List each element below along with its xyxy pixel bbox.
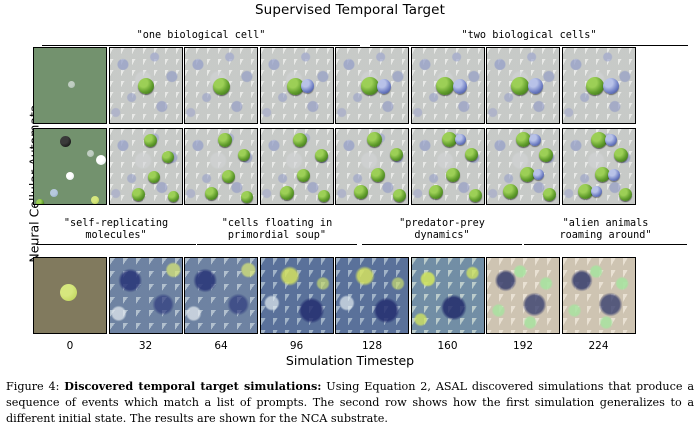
panel-r3-t96[interactable] bbox=[260, 257, 334, 334]
seed-blob-green bbox=[36, 199, 44, 205]
organism-green bbox=[354, 185, 368, 199]
organism-blue bbox=[529, 134, 541, 146]
organism-green bbox=[539, 148, 553, 162]
organism-green bbox=[148, 171, 160, 183]
panel-r2-t160[interactable] bbox=[411, 128, 485, 205]
prompt-group-bottom-1-rule bbox=[197, 242, 357, 245]
prompt-group-bottom-0-rule bbox=[36, 242, 196, 245]
organism-green bbox=[619, 188, 632, 201]
prompt-group-bottom-2: "predator-prey dynamics" bbox=[362, 218, 522, 245]
panel-r2-t0[interactable] bbox=[33, 128, 107, 205]
panel-r3-t64[interactable] bbox=[184, 257, 258, 334]
prompt-group-top-1-rule bbox=[370, 43, 688, 46]
seed-blob bbox=[68, 81, 75, 88]
organism-blue bbox=[377, 79, 391, 94]
seed-blob-sky bbox=[50, 189, 58, 197]
organism-green bbox=[162, 151, 174, 163]
panel-r2-t96[interactable] bbox=[260, 128, 334, 205]
prompt-group-bottom-3-line1: "alien animals bbox=[524, 218, 687, 230]
organism-blue bbox=[608, 169, 620, 181]
organism-blue bbox=[533, 169, 544, 180]
prompt-group-top-1: "two biological cells" bbox=[370, 30, 688, 46]
panel-r2-t64[interactable] bbox=[184, 128, 258, 205]
organism-green bbox=[138, 78, 154, 94]
panel-r2-t128[interactable] bbox=[335, 128, 409, 205]
x-tick-160: 160 bbox=[411, 340, 485, 352]
prompt-group-bottom-0-line1: "self-replicating bbox=[36, 218, 196, 230]
organism-green bbox=[446, 168, 460, 182]
prompt-group-bottom-2-line1: "predator-prey bbox=[362, 218, 522, 230]
organism-green bbox=[586, 77, 604, 95]
figure-caption: Figure 4: Discovered temporal target sim… bbox=[6, 378, 694, 428]
panel-r3-t224[interactable] bbox=[562, 257, 636, 334]
organism-green bbox=[168, 191, 179, 202]
x-tick-96: 96 bbox=[260, 340, 334, 352]
seed-blob-lime bbox=[91, 196, 99, 204]
prompt-group-bottom-3-line2: roaming around" bbox=[524, 230, 687, 242]
organism-green bbox=[371, 168, 385, 182]
seed-blob-pale bbox=[87, 150, 94, 157]
seed-blob-lime bbox=[60, 284, 77, 301]
seed-blob-white bbox=[66, 172, 74, 180]
seed-blob-black bbox=[60, 136, 71, 147]
organism-green bbox=[222, 170, 235, 183]
prompt-group-bottom-1-line1: "cells floating in bbox=[197, 218, 357, 230]
organism-green bbox=[614, 148, 628, 162]
figure-container: Supervised Temporal Target Neural Cellul… bbox=[0, 0, 700, 439]
organism-blue bbox=[603, 78, 619, 94]
prompt-group-bottom-0: "self-replicating molecules" bbox=[36, 218, 196, 245]
seed-blob-white bbox=[96, 155, 106, 165]
organism-green bbox=[393, 189, 406, 202]
panel-r3-t32[interactable] bbox=[109, 257, 183, 334]
organism-green bbox=[144, 134, 157, 147]
panel-r3-t160[interactable] bbox=[411, 257, 485, 334]
organism-green bbox=[318, 190, 330, 202]
prompt-group-bottom-2-rule bbox=[362, 242, 522, 245]
organism-green bbox=[503, 184, 518, 199]
x-tick-128: 128 bbox=[335, 340, 409, 352]
panel-r1-t0[interactable] bbox=[33, 47, 107, 124]
organism-green bbox=[297, 169, 310, 182]
organism-green bbox=[218, 133, 232, 147]
organism-green bbox=[315, 149, 328, 162]
figure-title: Supervised Temporal Target bbox=[0, 2, 700, 18]
organism-blue bbox=[528, 78, 543, 94]
panel-r1-t32[interactable] bbox=[109, 47, 183, 124]
x-axis-label: Simulation Timestep bbox=[0, 353, 700, 368]
panel-row-1 bbox=[33, 47, 636, 124]
organism-green bbox=[367, 132, 382, 147]
organism-green bbox=[205, 187, 218, 200]
organism-green bbox=[390, 148, 403, 161]
panel-r3-t128[interactable] bbox=[335, 257, 409, 334]
panel-r1-t192[interactable] bbox=[486, 47, 560, 124]
organism-blue bbox=[301, 79, 314, 93]
panel-r1-t128[interactable] bbox=[335, 47, 409, 124]
prompt-group-bottom-3: "alien animals roaming around" bbox=[524, 218, 687, 245]
panel-r1-t96[interactable] bbox=[260, 47, 334, 124]
panel-r3-t192[interactable] bbox=[486, 257, 560, 334]
organism-green bbox=[469, 189, 482, 202]
prompt-group-bottom-1: "cells floating in primordial soup" bbox=[197, 218, 357, 245]
panel-r1-t224[interactable] bbox=[562, 47, 636, 124]
caption-prefix: Figure 4: bbox=[6, 380, 64, 393]
prompt-group-top-0-label: "one biological cell" bbox=[42, 30, 360, 42]
organism-green bbox=[132, 188, 145, 201]
panel-r1-t160[interactable] bbox=[411, 47, 485, 124]
panel-r2-t192[interactable] bbox=[486, 128, 560, 205]
prompt-group-top-0: "one biological cell" bbox=[42, 30, 360, 46]
panel-r1-t64[interactable] bbox=[184, 47, 258, 124]
x-tick-32: 32 bbox=[109, 340, 183, 352]
panel-r3-t0[interactable] bbox=[33, 257, 107, 334]
panel-row-3 bbox=[33, 257, 636, 334]
organism-green bbox=[293, 133, 307, 147]
organism-green bbox=[280, 186, 294, 200]
panel-r2-t224[interactable] bbox=[562, 128, 636, 205]
panel-row-2 bbox=[33, 128, 636, 205]
organism-blue bbox=[605, 134, 617, 146]
x-tick-64: 64 bbox=[184, 340, 258, 352]
organism-green bbox=[436, 77, 454, 95]
organism-green bbox=[543, 188, 556, 201]
organism-blue bbox=[453, 79, 467, 94]
prompt-group-bottom-2-line2: dynamics" bbox=[362, 230, 522, 242]
prompt-group-bottom-0-line2: molecules" bbox=[36, 230, 196, 242]
x-tick-0: 0 bbox=[33, 340, 107, 352]
prompt-group-bottom-1-line2: primordial soup" bbox=[197, 230, 357, 242]
organism-blue bbox=[455, 134, 466, 145]
x-tick-192: 192 bbox=[486, 340, 560, 352]
prompt-group-top-1-label: "two biological cells" bbox=[370, 30, 688, 42]
panel-r2-t32[interactable] bbox=[109, 128, 183, 205]
prompt-group-top-0-rule bbox=[42, 43, 360, 46]
organism-green bbox=[238, 149, 250, 161]
organism-green bbox=[511, 77, 529, 95]
x-tick-224: 224 bbox=[562, 340, 636, 352]
organism-green bbox=[429, 185, 443, 199]
prompt-group-bottom-3-rule bbox=[524, 242, 687, 245]
organism-green bbox=[213, 78, 230, 95]
organism-green bbox=[465, 148, 478, 161]
organism-blue bbox=[591, 186, 602, 197]
organism-green bbox=[241, 191, 253, 203]
caption-bold: Discovered temporal target simulations: bbox=[64, 379, 321, 393]
